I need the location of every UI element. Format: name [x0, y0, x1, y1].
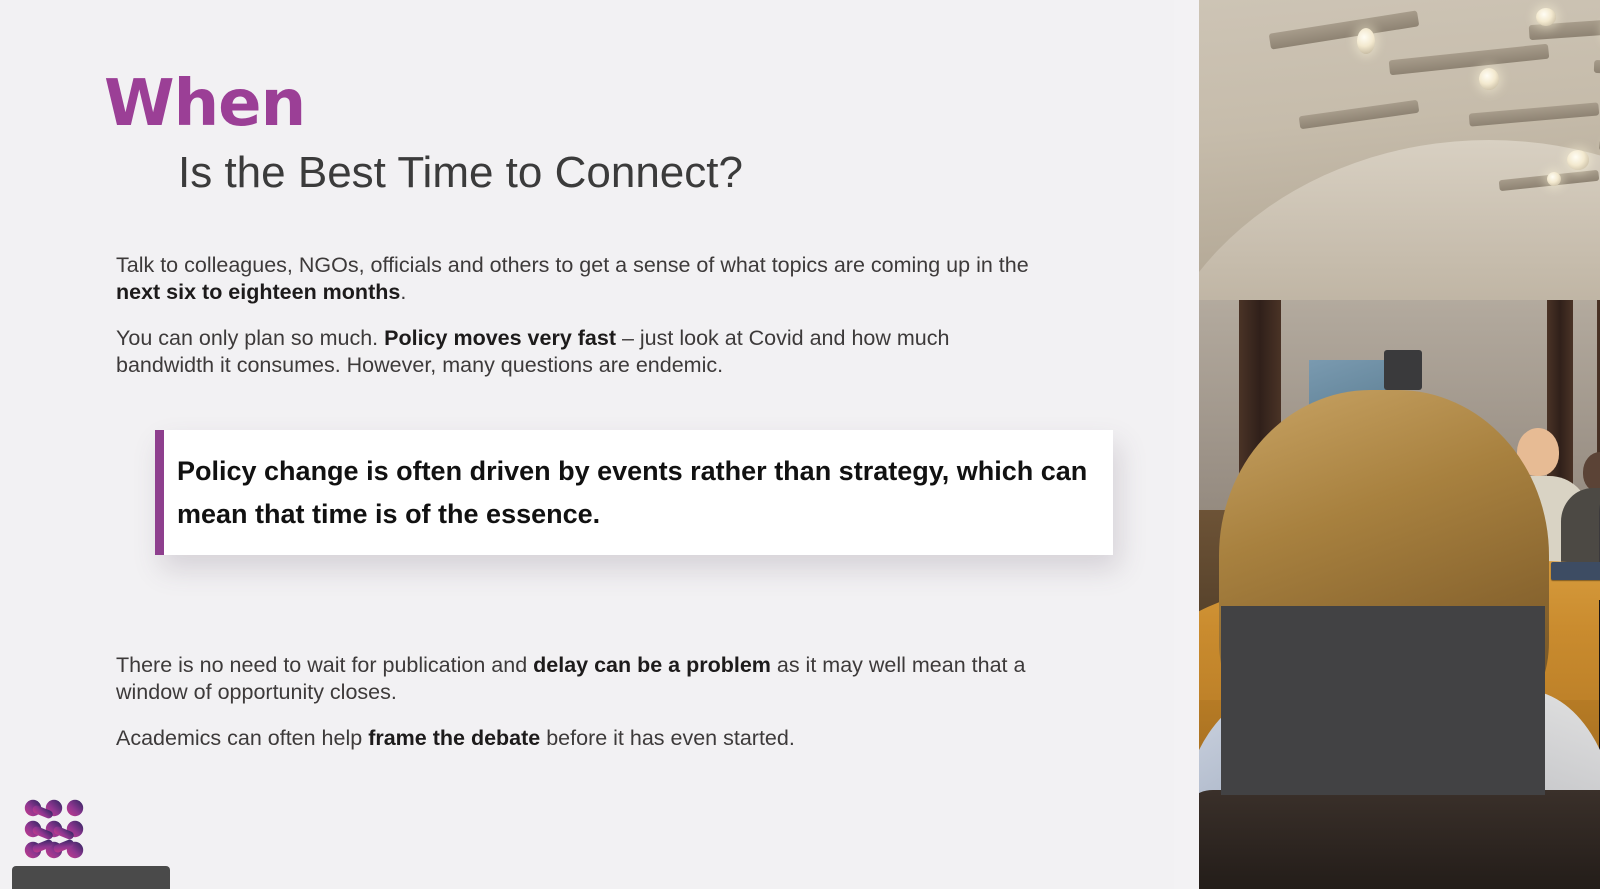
- emphasis-run: frame the debate: [368, 726, 540, 750]
- emphasis-run: delay can be a problem: [533, 653, 771, 677]
- ceiling-spotlight: [1479, 68, 1499, 90]
- slide-canvas: When Is the Best Time to Connect? Talk t…: [0, 0, 1174, 889]
- attendee-body: [1561, 488, 1600, 572]
- ceiling-spotlight: [1547, 172, 1561, 186]
- nameplate: [1551, 562, 1600, 580]
- quote-accent-bar: [155, 430, 164, 555]
- page-subtitle: Is the Best Time to Connect?: [178, 150, 743, 196]
- presenter-name-label: [12, 866, 170, 889]
- text-run: Academics can often help: [116, 726, 368, 750]
- ceiling-spotlight: [1357, 28, 1375, 54]
- emphasis-run: next six to eighteen months: [116, 280, 400, 304]
- chair-back: [1199, 790, 1600, 889]
- wall-speaker: [1384, 350, 1422, 390]
- ceiling-spotlight: [1567, 150, 1589, 170]
- emphasis-run: Policy moves very fast: [384, 326, 616, 350]
- quote-text: Policy change is often driven by events …: [155, 450, 1113, 535]
- text-run: You can only plan so much.: [116, 326, 384, 350]
- dot-grid-logo: [22, 796, 86, 860]
- slide-heading-block: When Is the Best Time to Connect?: [104, 72, 743, 196]
- paragraph-2: You can only plan so much. Policy moves …: [116, 325, 1046, 378]
- ceiling-spotlight: [1536, 8, 1556, 26]
- video-left-gutter: [1174, 0, 1199, 889]
- slide-body-lower: There is no need to wait for publication…: [116, 652, 1046, 772]
- text-run: There is no need to wait for publication…: [116, 653, 533, 677]
- slide-body-upper: Talk to colleagues, NGOs, officials and …: [116, 252, 1046, 399]
- quote-callout-card: Policy change is often driven by events …: [155, 430, 1113, 555]
- paragraph-4: Academics can often help frame the debat…: [116, 725, 1046, 752]
- paragraph-1: Talk to colleagues, NGOs, officials and …: [116, 252, 1046, 305]
- presentation-screen-share: When Is the Best Time to Connect? Talk t…: [0, 0, 1600, 889]
- text-run: .: [400, 280, 406, 304]
- video-overlay-placeholder: [1221, 606, 1545, 795]
- paragraph-3: There is no need to wait for publication…: [116, 652, 1046, 705]
- page-title: When: [104, 72, 743, 136]
- text-run: Talk to colleagues, NGOs, officials and …: [116, 253, 1029, 277]
- text-run: before it has even started.: [540, 726, 795, 750]
